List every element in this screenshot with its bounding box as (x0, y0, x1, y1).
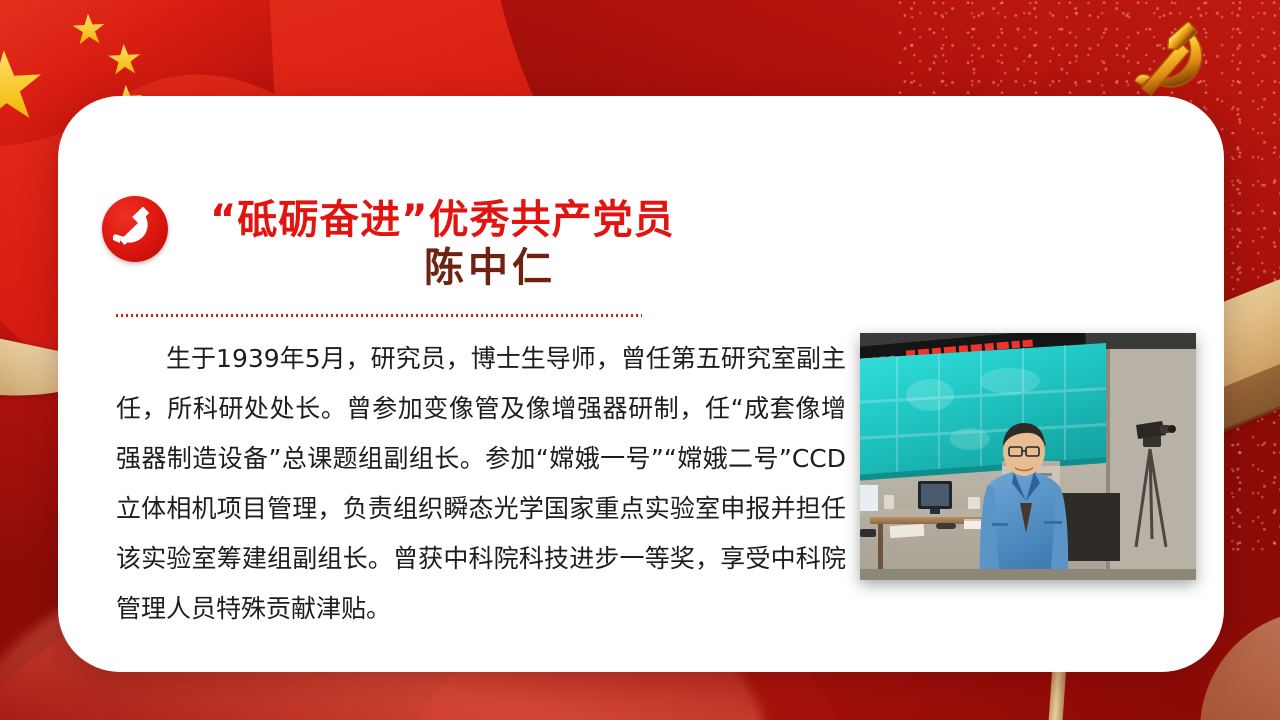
biography-text: 生于1939年5月，研究员，博士生导师，曾任第五研究室副主任，所科研处处长。曾参… (116, 334, 846, 634)
person-photo (860, 333, 1196, 580)
divider (116, 314, 642, 317)
person-name: 陈中仁 (210, 246, 770, 291)
cpc-party-badge-icon (102, 196, 168, 262)
content-card: “砥砺奋进”优秀共产党员 陈中仁 生于1939年5月，研究员，博士生导师，曾任第… (58, 96, 1224, 672)
page-title: “砥砺奋进”优秀共产党员 (210, 198, 770, 243)
slide-root: “砥砺奋进”优秀共产党员 陈中仁 生于1939年5月，研究员，博士生导师，曾任第… (0, 0, 1280, 720)
